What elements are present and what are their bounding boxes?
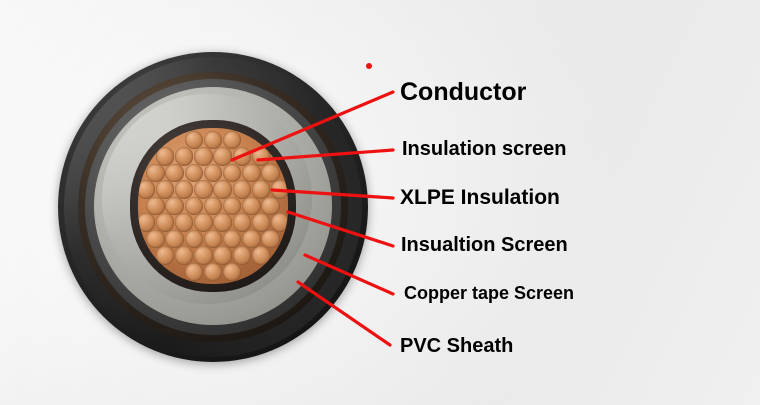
label-xlpe-insulation: XLPE Insulation xyxy=(400,186,560,210)
leader-insulation-screen xyxy=(258,150,393,160)
diagram-canvas: Conductor Insulation screen XLPE Insulat… xyxy=(0,0,760,405)
accent-dot xyxy=(366,63,372,69)
label-copper-tape-screen: Copper tape Screen xyxy=(404,283,574,304)
leader-insualtion-screen xyxy=(288,212,393,246)
leader-lines xyxy=(0,0,760,405)
leader-pvc-sheath xyxy=(298,282,390,345)
label-insulation-screen: Insulation screen xyxy=(402,138,567,161)
label-insualtion-screen: Insualtion Screen xyxy=(401,234,568,257)
leader-xlpe-insulation xyxy=(272,190,393,198)
label-conductor: Conductor xyxy=(400,78,526,107)
label-pvc-sheath: PVC Sheath xyxy=(400,335,513,358)
leader-conductor xyxy=(232,92,393,160)
leader-copper-tape-screen xyxy=(305,255,393,294)
